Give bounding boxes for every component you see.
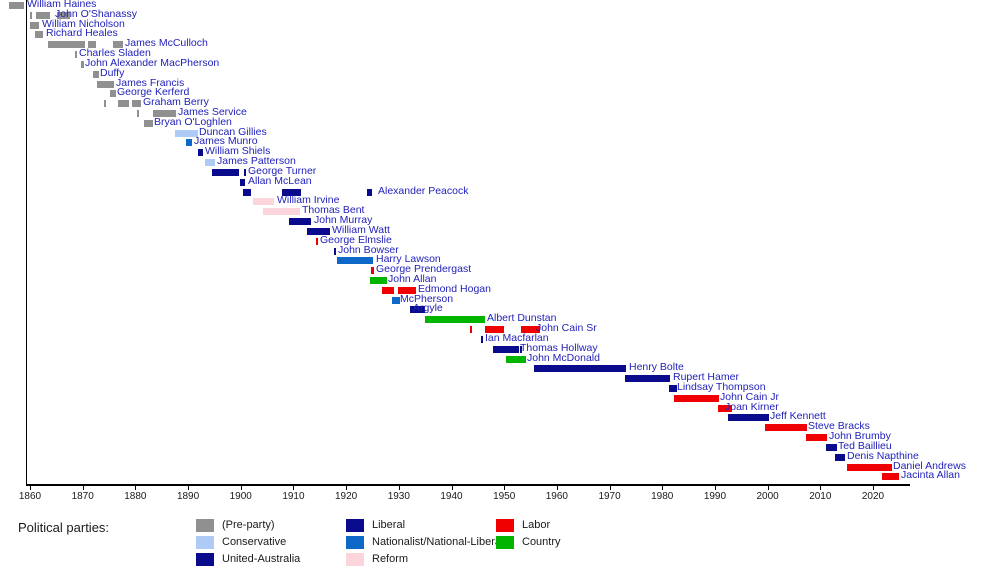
legend-swatch <box>196 553 214 566</box>
term-bar[interactable] <box>367 189 372 196</box>
legend-label: Country <box>522 535 561 549</box>
legend-label: Conservative <box>222 535 286 549</box>
term-bar[interactable] <box>30 12 32 19</box>
x-axis-tick-label: 1970 <box>598 491 620 502</box>
term-bar[interactable] <box>382 287 394 294</box>
term-bar[interactable] <box>493 346 519 353</box>
x-axis-tick-label: 2020 <box>862 491 884 502</box>
x-axis-tick <box>768 485 769 490</box>
x-axis-tick-label: 1940 <box>440 491 462 502</box>
legend-swatch <box>346 536 364 549</box>
term-bar[interactable] <box>534 365 626 372</box>
term-bar[interactable] <box>104 100 106 107</box>
x-axis-tick <box>293 485 294 490</box>
term-bar[interactable] <box>243 189 251 196</box>
term-bar[interactable] <box>334 248 336 255</box>
x-axis-tick <box>346 485 347 490</box>
x-axis-tick <box>820 485 821 490</box>
x-axis-tick-label: 1950 <box>493 491 515 502</box>
x-axis-tick <box>241 485 242 490</box>
x-axis-tick <box>399 485 400 490</box>
term-bar[interactable] <box>93 71 99 78</box>
x-axis-tick-label: 2000 <box>757 491 779 502</box>
legend-swatch <box>346 553 364 566</box>
premier-name-label: Allan McLean <box>248 176 312 187</box>
term-bar[interactable] <box>470 326 472 333</box>
legend-swatch <box>196 536 214 549</box>
term-bar[interactable] <box>144 120 153 127</box>
legend-label: United-Australia <box>222 552 300 566</box>
premier-name-label: Richard Heales <box>46 28 118 39</box>
premier-name-label: Alexander Peacock <box>378 186 468 197</box>
timeline-row[interactable]: Jacinta Allan <box>0 471 1000 482</box>
x-axis-tick <box>715 485 716 490</box>
x-axis-tick-label: 2010 <box>809 491 831 502</box>
premier-name-label: John McDonald <box>527 353 600 364</box>
legend-swatch <box>196 519 214 532</box>
term-bar[interactable] <box>35 31 43 38</box>
x-axis-tick-label: 1890 <box>177 491 199 502</box>
x-axis-tick-label: 1930 <box>388 491 410 502</box>
legend-label: Nationalist/National-Liberal <box>372 535 503 549</box>
legend-label: Labor <box>522 518 550 532</box>
term-bar[interactable] <box>97 81 114 88</box>
term-bar[interactable] <box>137 110 139 117</box>
term-bar[interactable] <box>240 179 245 186</box>
legend-swatch <box>496 519 514 532</box>
term-bar[interactable] <box>198 149 203 156</box>
term-bar[interactable] <box>392 297 400 304</box>
term-bar[interactable] <box>316 238 318 245</box>
chart-plot-area: 1860187018801890190019101920193019401950… <box>0 0 1000 490</box>
x-axis-tick <box>662 485 663 490</box>
x-axis-tick <box>557 485 558 490</box>
term-bar[interactable] <box>75 51 77 58</box>
term-bar[interactable] <box>110 90 116 97</box>
premiers-timeline-chart: 1860187018801890190019101920193019401950… <box>0 0 1000 573</box>
term-bar[interactable] <box>244 169 246 176</box>
x-axis-tick-label: 1900 <box>230 491 252 502</box>
term-bar[interactable] <box>882 473 899 480</box>
chart-legend: Political parties: (Pre-party)Conservati… <box>0 508 1000 573</box>
term-bar[interactable] <box>806 434 827 441</box>
legend-swatch <box>496 536 514 549</box>
x-axis-line <box>26 484 910 486</box>
x-axis-tick <box>504 485 505 490</box>
term-bar[interactable] <box>132 100 141 107</box>
term-bar[interactable] <box>481 336 483 343</box>
x-axis-tick <box>83 485 84 490</box>
x-axis-tick-label: 1990 <box>704 491 726 502</box>
term-bar[interactable] <box>506 356 526 363</box>
term-bar[interactable] <box>826 444 837 451</box>
term-bar[interactable] <box>337 257 373 264</box>
term-bar[interactable] <box>186 139 192 146</box>
x-axis-tick-label: 1880 <box>124 491 146 502</box>
term-bar[interactable] <box>118 100 129 107</box>
premier-name-label: Argyle <box>413 303 443 314</box>
term-bar[interactable] <box>253 198 274 205</box>
premier-name-label: Jacinta Allan <box>901 470 960 481</box>
term-bar[interactable] <box>9 2 24 9</box>
x-axis-tick-label: 1980 <box>651 491 673 502</box>
x-axis-tick <box>188 485 189 490</box>
x-axis-tick-label: 1960 <box>546 491 568 502</box>
term-bar[interactable] <box>674 395 719 402</box>
legend-swatch <box>346 519 364 532</box>
legend-label: Reform <box>372 552 408 566</box>
legend-title: Political parties: <box>18 520 109 535</box>
term-bar[interactable] <box>289 218 311 225</box>
term-bar[interactable] <box>263 208 300 215</box>
term-bar[interactable] <box>371 267 374 274</box>
x-axis-tick <box>30 485 31 490</box>
term-bar[interactable] <box>205 159 215 166</box>
legend-label: Liberal <box>372 518 405 532</box>
x-axis-tick-label: 1860 <box>19 491 41 502</box>
x-axis-tick-label: 1910 <box>282 491 304 502</box>
x-axis-tick <box>610 485 611 490</box>
term-bar[interactable] <box>669 385 677 392</box>
legend-label: (Pre-party) <box>222 518 275 532</box>
term-bar[interactable] <box>835 454 845 461</box>
term-bar[interactable] <box>728 414 769 421</box>
term-bar[interactable] <box>212 169 239 176</box>
x-axis-tick <box>873 485 874 490</box>
term-bar[interactable] <box>81 61 84 68</box>
x-axis-tick-label: 1920 <box>335 491 357 502</box>
x-axis-tick-label: 1870 <box>72 491 94 502</box>
term-bar[interactable] <box>625 375 670 382</box>
term-bar[interactable] <box>30 22 39 29</box>
term-bar[interactable] <box>370 277 387 284</box>
term-bar[interactable] <box>425 316 485 323</box>
term-bar[interactable] <box>765 424 807 431</box>
x-axis-tick <box>452 485 453 490</box>
term-bar[interactable] <box>847 464 892 471</box>
x-axis-tick <box>135 485 136 490</box>
